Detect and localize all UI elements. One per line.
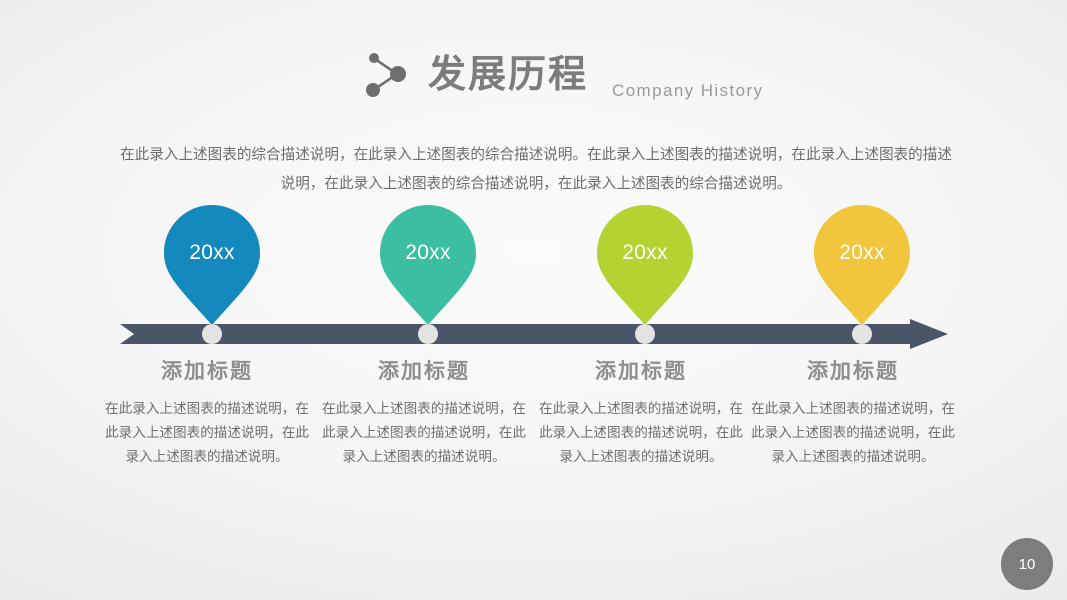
milestone-body: 在此录入上述图表的描述说明，在此录入上述图表的描述说明，在此录入上述图表的描述说… [318,397,530,469]
milestone-body: 在此录入上述图表的描述说明，在此录入上述图表的描述说明，在此录入上述图表的描述说… [535,397,747,469]
milestone-title: 添加标题 [535,360,747,383]
milestone-columns: 添加标题 在此录入上述图表的描述说明，在此录入上述图表的描述说明，在此录入上述图… [0,360,1067,540]
page-number-badge: 10 [1001,538,1053,590]
map-pin-icon: 20xx [164,205,260,325]
milestone-title: 添加标题 [747,360,959,383]
milestone-column-4: 添加标题 在此录入上述图表的描述说明，在此录入上述图表的描述说明，在此录入上述图… [747,360,959,469]
timeline: 20xx 20xx 20xx [0,205,1067,355]
map-pin-icon: 20xx [597,205,693,325]
page-title: 发展历程 [428,55,588,93]
slide-canvas: 发展历程 Company History 在此录入上述图表的综合描述说明，在此录… [0,0,1067,600]
intro-paragraph: 在此录入上述图表的综合描述说明，在此录入上述图表的综合描述说明。在此录入上述图表… [120,140,952,198]
milestone-column-2: 添加标题 在此录入上述图表的描述说明，在此录入上述图表的描述说明，在此录入上述图… [318,360,530,469]
timeline-node-dot [852,324,872,344]
milestone-title: 添加标题 [101,360,313,383]
milestone-column-1: 添加标题 在此录入上述图表的描述说明，在此录入上述图表的描述说明，在此录入上述图… [101,360,313,469]
milestone-body: 在此录入上述图表的描述说明，在此录入上述图表的描述说明，在此录入上述图表的描述说… [747,397,959,469]
timeline-node-dot [202,324,222,344]
map-pin-icon: 20xx [380,205,476,325]
milestone-column-3: 添加标题 在此录入上述图表的描述说明，在此录入上述图表的描述说明，在此录入上述图… [535,360,747,469]
map-pin-icon: 20xx [814,205,910,325]
timeline-node-dot [418,324,438,344]
milestone-body: 在此录入上述图表的描述说明，在此录入上述图表的描述说明，在此录入上述图表的描述说… [101,397,313,469]
share-nodes-icon [356,42,420,106]
slide-header: 发展历程 Company History [356,38,763,110]
milestone-title: 添加标题 [318,360,530,383]
page-subtitle: Company History [612,81,763,110]
timeline-node-dot [635,324,655,344]
